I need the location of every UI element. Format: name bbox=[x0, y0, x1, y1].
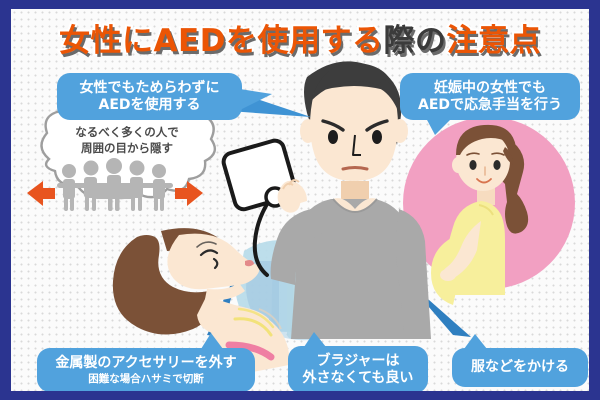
cloud-text: なるべく多くの人で 周囲の目から隠す bbox=[27, 125, 227, 156]
callout-bottom-middle-line-2: 外さなくても良い bbox=[299, 370, 417, 387]
poster-frame: 女性にAEDを使用する際の注意点 bbox=[0, 0, 600, 400]
callout-bottom-left-tail bbox=[201, 333, 223, 349]
callout-top-left-line-1: 女性でもためらわずに bbox=[68, 80, 231, 97]
callout-bottom-middle-tail bbox=[304, 332, 326, 347]
callout-top-left-line-2: AEDを使用する bbox=[68, 97, 231, 114]
callout-top-right[interactable]: 妊娠中の女性でも AEDで応急手当を行う bbox=[400, 73, 580, 120]
callout-bottom-left-sub: 困難な場合ハサミで切断 bbox=[48, 373, 244, 385]
callout-top-left[interactable]: 女性でもためらわずに AEDを使用する bbox=[57, 73, 242, 120]
poster-canvas: 女性にAEDを使用する際の注意点 bbox=[11, 9, 589, 391]
callout-bottom-left[interactable]: 金属製のアクセサリーを外す 困難な場合ハサミで切断 bbox=[37, 348, 255, 391]
callout-bottom-right-tail bbox=[464, 334, 487, 349]
callout-bottom-left-line-1: 金属製のアクセサリーを外す bbox=[48, 355, 244, 372]
callout-top-right-line-2: AEDで応急手当を行う bbox=[411, 97, 569, 114]
callout-top-right-line-1: 妊娠中の女性でも bbox=[411, 80, 569, 97]
callout-bottom-right[interactable]: 服などをかける bbox=[452, 348, 588, 387]
thought-cloud-text-group: なるべく多くの人で 周囲の目から隠す bbox=[27, 113, 227, 209]
callout-bottom-right-line-1: 服などをかける bbox=[463, 359, 577, 376]
callout-bottom-middle[interactable]: ブラジャーは 外さなくても良い bbox=[288, 346, 428, 391]
cloud-line-2: 周囲の目から隠す bbox=[27, 141, 227, 157]
callout-top-right-tail bbox=[426, 118, 452, 135]
cloud-line-1: なるべく多くの人で bbox=[27, 125, 227, 141]
callout-top-left-tail bbox=[240, 89, 272, 110]
callout-bottom-middle-line-1: ブラジャーは bbox=[299, 353, 417, 370]
